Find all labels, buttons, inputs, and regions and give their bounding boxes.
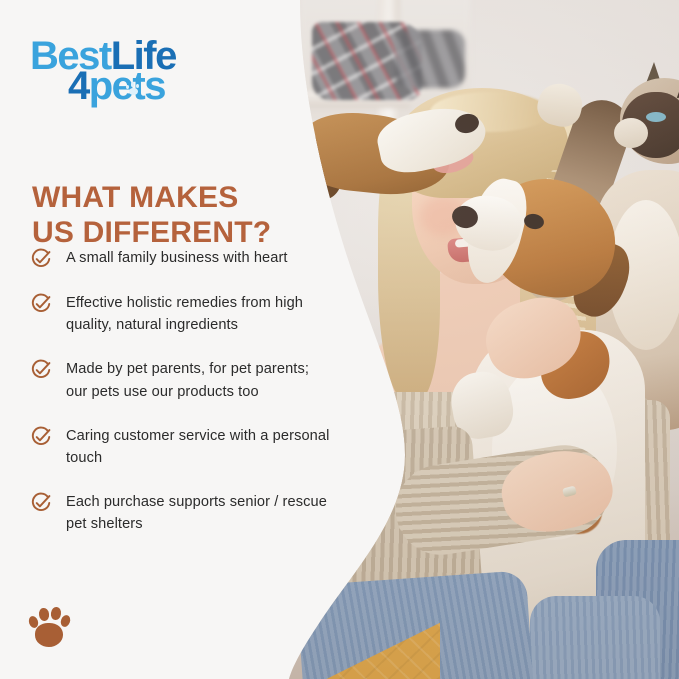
list-item: Each purchase supports senior / rescue p… bbox=[30, 491, 330, 535]
list-item-label: Each purchase supports senior / rescue p… bbox=[66, 491, 330, 535]
marketing-banner: BestLife 4pets WHAT MAKES US DIFFERENT? bbox=[0, 0, 679, 679]
list-item: Effective holistic remedies from high qu… bbox=[30, 292, 330, 336]
brand-logo[interactable]: BestLife 4pets bbox=[30, 36, 205, 110]
list-item: Caring customer service with a personal … bbox=[30, 425, 330, 469]
page-title: WHAT MAKES US DIFFERENT? bbox=[32, 180, 312, 251]
paw-print-icon bbox=[28, 606, 72, 648]
logo-paw-print-icon bbox=[126, 82, 141, 96]
list-item-label: Caring customer service with a personal … bbox=[66, 425, 330, 469]
check-circle-icon bbox=[30, 426, 52, 448]
list-item-label: Made by pet parents, for pet parents; ou… bbox=[66, 358, 330, 402]
list-item: Made by pet parents, for pet parents; ou… bbox=[30, 358, 330, 402]
logo-line-two: 4pets bbox=[68, 66, 165, 106]
logo-text-four: 4 bbox=[68, 64, 89, 108]
headline-line-two: US DIFFERENT? bbox=[32, 215, 312, 250]
check-circle-icon bbox=[30, 359, 52, 381]
list-item-label: A small family business with heart bbox=[66, 247, 288, 269]
list-item: A small family business with heart bbox=[30, 247, 330, 270]
content-panel: BestLife 4pets WHAT MAKES US DIFFERENT? bbox=[0, 0, 330, 679]
check-circle-icon bbox=[30, 293, 52, 315]
headline-line-one: WHAT MAKES bbox=[32, 180, 312, 215]
list-item-label: Effective holistic remedies from high qu… bbox=[66, 292, 330, 336]
benefits-list: A small family business with heart Effec… bbox=[30, 247, 330, 557]
check-circle-icon bbox=[30, 492, 52, 514]
check-circle-icon bbox=[30, 248, 52, 270]
